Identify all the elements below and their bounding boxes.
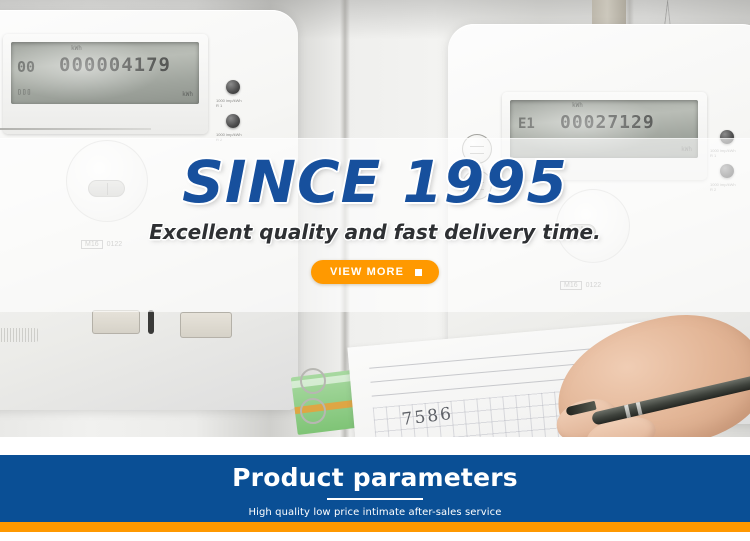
section-subtitle: High quality low price intimate after-sa… <box>0 507 750 518</box>
meter-vent <box>0 328 38 342</box>
section-title-underline <box>327 498 423 500</box>
orange-accent-bar <box>0 522 750 532</box>
meter-key-slot <box>180 312 232 338</box>
hero-banner: kWh 00 000004179 kWh ▯▯▯ 1000 imp/kWhR 1… <box>0 0 750 437</box>
section-title: Product parameters <box>0 455 750 492</box>
binder-ring <box>300 368 326 394</box>
section-heading-banner: Product parameters High quality low pric… <box>0 455 750 522</box>
meter-key-slot <box>92 310 140 334</box>
hero-subheadline: Excellent quality and fast delivery time… <box>0 220 750 244</box>
view-more-label: VIEW MORE <box>330 266 404 278</box>
hero-copy: SINCE 1995 Excellent quality and fast de… <box>0 138 750 312</box>
pulse-led-label-1: 1000 imp/kWhR 1 <box>216 98 242 108</box>
pulse-led-1 <box>226 80 240 94</box>
hero-headline: SINCE 1995 <box>0 138 750 216</box>
square-icon <box>415 269 422 276</box>
meter-indicator-slot <box>148 310 154 334</box>
pen-band <box>636 402 643 416</box>
binder-ring <box>300 398 326 424</box>
lcd-glare <box>11 42 199 104</box>
pen-band <box>624 405 631 419</box>
seal-wire <box>0 128 151 130</box>
lcd-screen-left: kWh 00 000004179 kWh ▯▯▯ <box>11 42 199 104</box>
view-more-button[interactable]: VIEW MORE <box>311 260 439 284</box>
pulse-led-2 <box>226 114 240 128</box>
